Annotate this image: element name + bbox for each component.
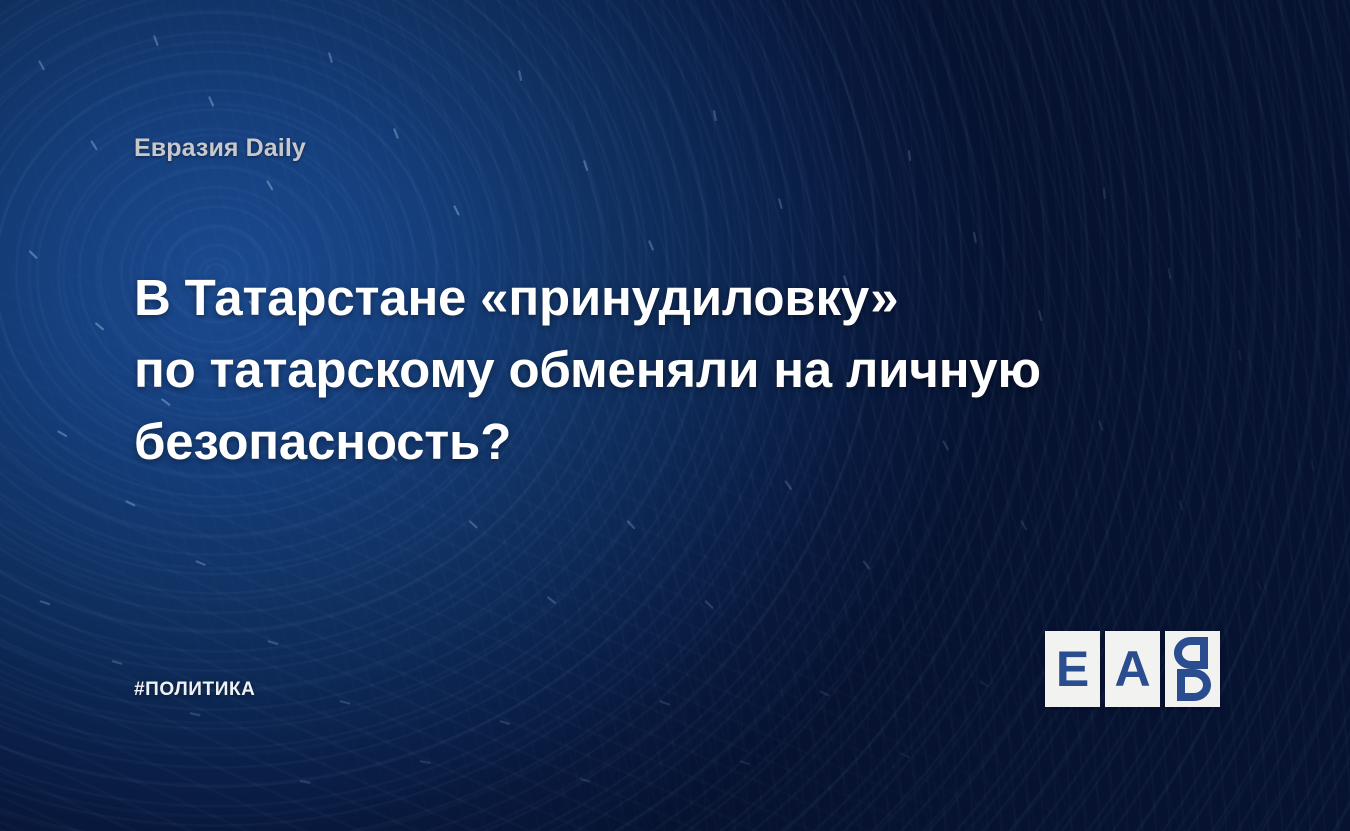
logo-tile-e: E [1045, 631, 1100, 707]
news-card: Евразия Daily В Татарстане «принудиловку… [0, 0, 1350, 831]
category-hashtag[interactable]: #ПОЛИТИКА [134, 679, 256, 701]
brand-title: Евразия Daily [134, 134, 306, 163]
page-title: В Татарстане «принудиловку» по татарском… [134, 262, 1114, 478]
logo-d-glyph [1165, 631, 1220, 707]
logo-letter-e: E [1056, 644, 1089, 694]
eadaily-logo: E A [1045, 631, 1220, 707]
headline-line-2: по татарскому обменяли на личную [134, 334, 1114, 406]
headline-line-3: безопасность? [134, 406, 1114, 478]
logo-letter-a: A [1114, 644, 1150, 694]
card-content: Евразия Daily В Татарстане «принудиловку… [0, 0, 1350, 831]
logo-tile-a: A [1105, 631, 1160, 707]
logo-tile-d-mark [1165, 631, 1220, 707]
headline-line-1: В Татарстане «принудиловку» [134, 262, 1114, 334]
